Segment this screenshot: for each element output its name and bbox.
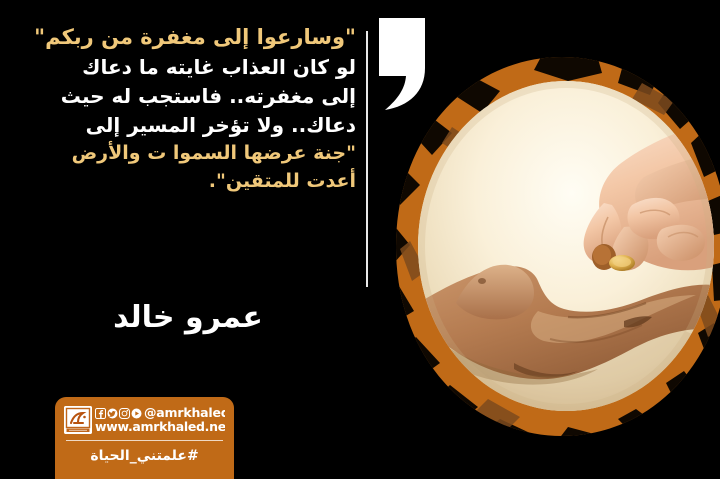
author-name: عمرو خالد — [20, 300, 356, 335]
youtube-icon[interactable] — [131, 408, 142, 419]
amr-khaled-logo-icon — [64, 406, 92, 434]
giving-hands-photo — [418, 81, 714, 411]
badge-divider — [66, 440, 223, 441]
quote-line-4: دعاك.. ولا تؤخر المسير إلى — [20, 111, 356, 140]
social-handle-text[interactable]: @amrkhaled — [144, 407, 225, 420]
instagram-icon[interactable] — [119, 408, 130, 419]
facebook-icon[interactable] — [95, 408, 106, 419]
photo-stage — [392, 55, 720, 440]
hashtag-text[interactable]: #علمتني_الحياة — [64, 448, 225, 464]
twitter-icon[interactable] — [107, 408, 118, 419]
vertical-divider — [366, 31, 368, 287]
quote-line-1: "وسارعوا إلى مغفرة من ربكم" — [20, 22, 356, 53]
quote-mark-icon — [373, 18, 425, 110]
quote-line-2: لو كان العذاب غايته ما دعاك — [20, 53, 356, 82]
quote-text-block: "وسارعوا إلى مغفرة من ربكم" لو كان العذا… — [20, 22, 356, 196]
brand-lines: @amrkhaled www.amrkhaled.net — [95, 407, 225, 433]
quote-line-3: إلى مغفرته.. فاستجب له حيث — [20, 82, 356, 111]
quote-card: "وسارعوا إلى مغفرة من ربكم" لو كان العذا… — [0, 0, 720, 479]
website-url[interactable]: www.amrkhaled.net — [95, 421, 225, 434]
brand-footer-badge[interactable]: @amrkhaled www.amrkhaled.net #علمتني_الح… — [55, 397, 234, 479]
quote-line-5: "جنة عرضها السموا ت والأرض — [20, 140, 356, 168]
brand-row: @amrkhaled www.amrkhaled.net — [64, 406, 225, 434]
quote-line-6: أعدت للمتقين". — [20, 168, 356, 196]
social-handle-row[interactable]: @amrkhaled — [95, 407, 225, 420]
